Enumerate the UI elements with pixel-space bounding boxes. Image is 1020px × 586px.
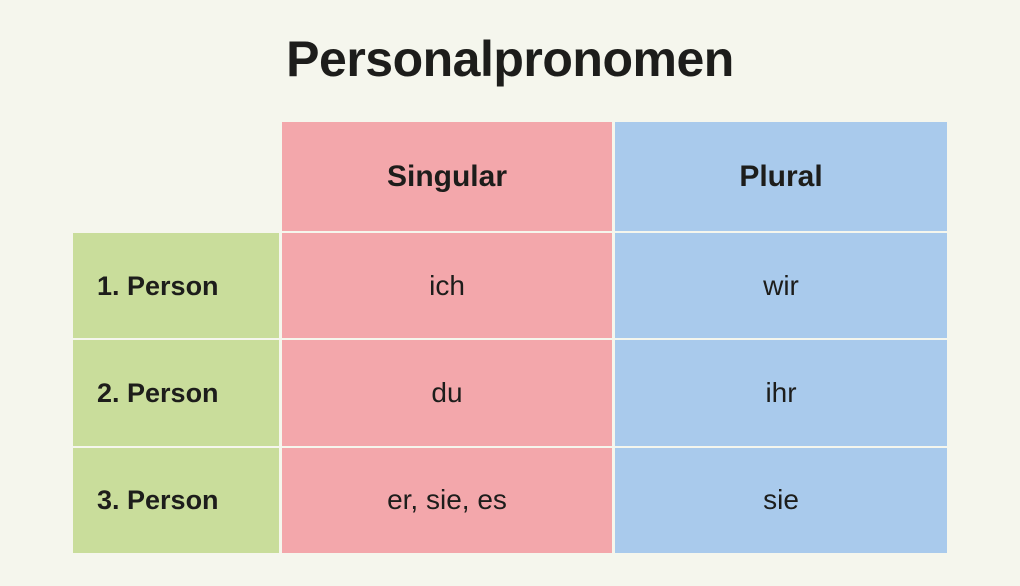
row-header-2-person: 2. Person [73, 338, 282, 445]
table-header-row: Singular Plural [73, 122, 947, 231]
cell-plural-3-person: sie [615, 446, 947, 553]
row-header-1-person: 1. Person [73, 231, 282, 338]
table-corner-cell [73, 122, 282, 231]
column-header-plural: Plural [615, 122, 947, 231]
cell-plural-2-person: ihr [615, 338, 947, 445]
cell-singular-3-person: er, sie, es [282, 446, 615, 553]
personal-pronouns-table: Singular Plural 1. Person ich wir 2. Per… [73, 122, 947, 553]
cell-singular-2-person: du [282, 338, 615, 445]
cell-plural-1-person: wir [615, 231, 947, 338]
table-row: 1. Person ich wir [73, 231, 947, 338]
row-header-3-person: 3. Person [73, 446, 282, 553]
pronoun-table-container: Singular Plural 1. Person ich wir 2. Per… [73, 122, 947, 553]
table-row: 3. Person er, sie, es sie [73, 446, 947, 553]
table-row: 2. Person du ihr [73, 338, 947, 445]
page-title: Personalpronomen [0, 28, 1020, 90]
poster-canvas: Personalpronomen Singular Plural 1. Pers… [0, 0, 1020, 586]
column-header-singular: Singular [282, 122, 615, 231]
cell-singular-1-person: ich [282, 231, 615, 338]
